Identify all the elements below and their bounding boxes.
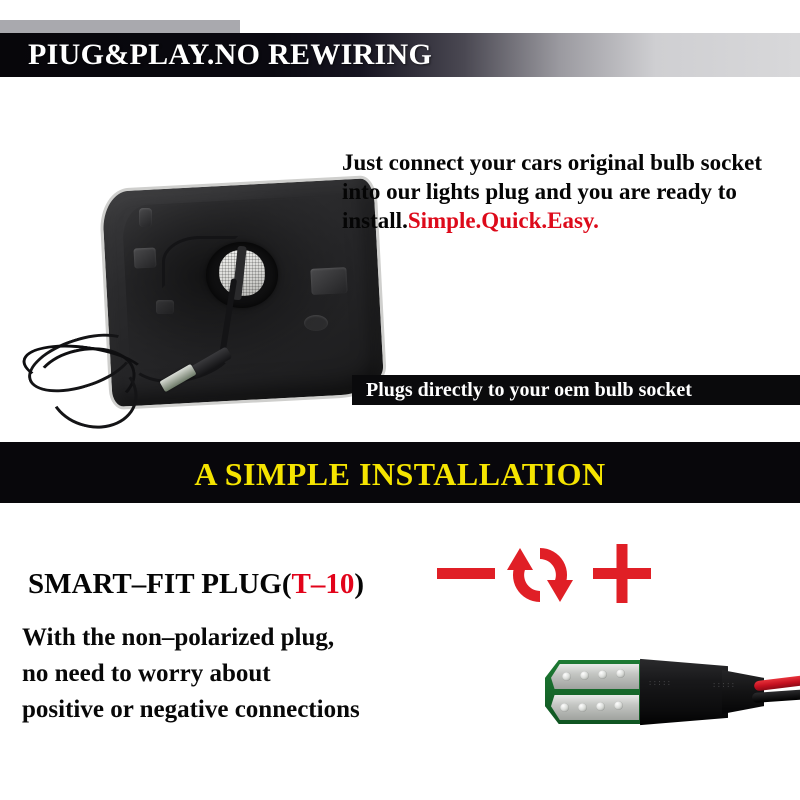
led-chip: [598, 670, 607, 679]
led-plug-marking-right: :::::: [712, 682, 736, 690]
led-chip: [560, 703, 569, 712]
plus-sign-icon: [593, 544, 651, 603]
connect-instructions-accent: Simple.Quick.Easy.: [408, 208, 599, 233]
header-accent-bar: [0, 20, 240, 33]
installation-banner-text: A SIMPLE INSTALLATION: [0, 455, 800, 493]
mirror-assembly-photo: [8, 160, 380, 430]
page-title: PIUG&PLAY.NO REWIRING: [28, 36, 432, 74]
smartfit-description: With the non–polarized plug, no need to …: [22, 620, 492, 728]
positive-wire-red: [754, 675, 800, 692]
led-chip: [578, 703, 587, 712]
led-chip: [614, 701, 623, 710]
smartfit-title-code: T–10: [292, 568, 355, 600]
led-chip: [616, 669, 625, 678]
mirror-clip-top: [139, 208, 152, 227]
mirror-dimple: [304, 315, 328, 331]
smartfit-line-1: With the non–polarized plug,: [22, 620, 492, 656]
swap-arrows-icon: [507, 548, 573, 602]
smartfit-line-3: positive or negative connections: [22, 692, 492, 728]
mirror-clip-right: [310, 267, 347, 295]
led-bulb-photo: ::::: :::::: [540, 650, 800, 745]
harness-wire-upper: [162, 236, 238, 288]
smartfit-title-prefix: SMART–FIT PLUG(: [28, 568, 292, 600]
connect-instructions: Just connect your cars original bulb soc…: [342, 148, 794, 235]
smartfit-line-2: no need to worry about: [22, 656, 492, 692]
mirror-clip-left: [133, 247, 156, 268]
smartfit-title-suffix: ): [354, 568, 364, 600]
led-plug-housing: [640, 656, 728, 728]
polarity-swap-icon: [437, 542, 651, 608]
oem-caption-text: Plugs directly to your oem bulb socket: [366, 378, 794, 403]
led-plug-marking-left: :::::: [648, 680, 672, 688]
led-chip: [562, 672, 571, 681]
smartfit-title: SMART–FIT PLUG(T–10): [28, 566, 364, 602]
led-chip: [596, 702, 605, 711]
led-chip: [580, 671, 589, 680]
minus-sign-icon: [437, 568, 495, 579]
